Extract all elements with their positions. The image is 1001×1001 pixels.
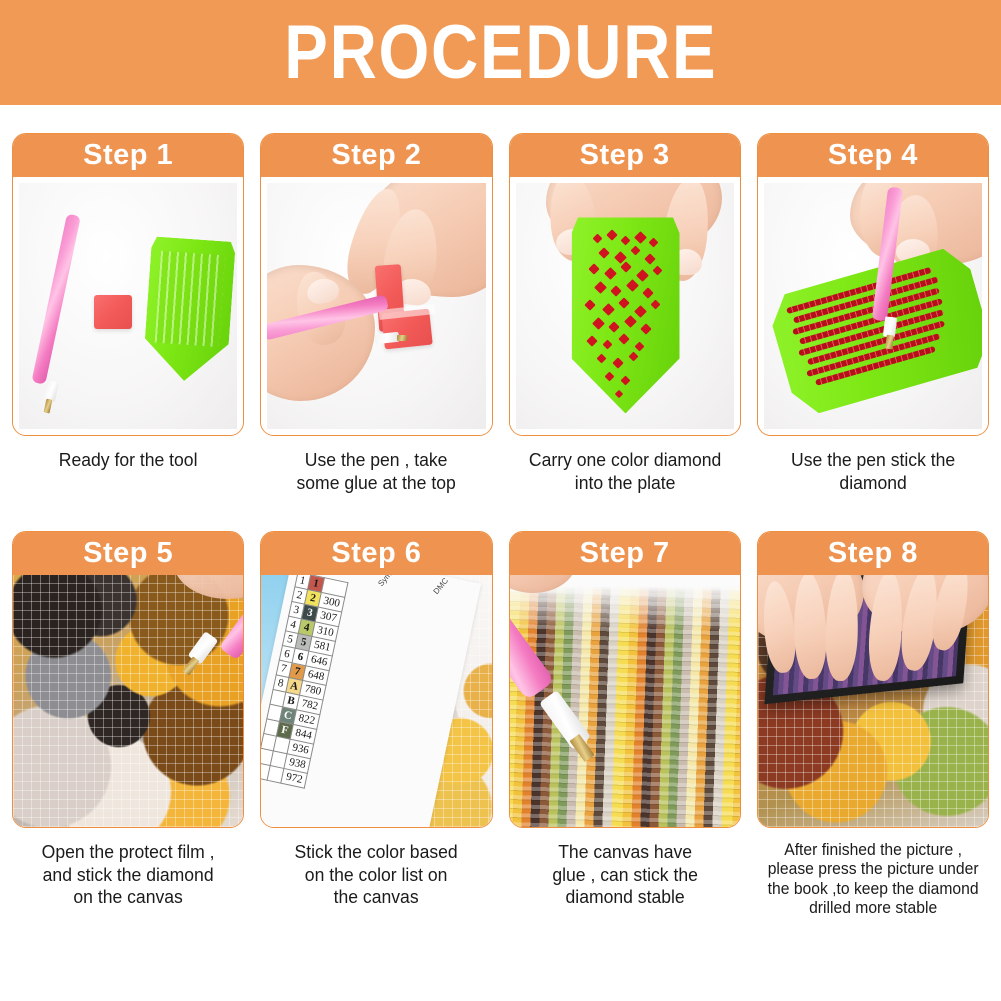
steps-grid: Step 1 Ready for the tool	[0, 105, 1001, 919]
step-card-5[interactable]: Step 5	[12, 531, 244, 828]
step-caption-4: Use the pen stick the diamond	[763, 449, 984, 494]
step-cell-4: Step 4	[757, 133, 989, 495]
step-image-4	[758, 177, 988, 435]
step-image-7	[510, 575, 740, 827]
step-card-2[interactable]: Step 2	[260, 133, 492, 436]
step-label-2: Step 2	[261, 134, 491, 177]
step-label-3: Step 3	[510, 134, 740, 177]
step-image-5	[13, 575, 243, 827]
step-image-3	[510, 177, 740, 435]
step-card-4[interactable]: Step 4	[757, 133, 989, 436]
step-caption-1: Ready for the tool	[18, 449, 239, 472]
step-label-7: Step 7	[510, 532, 740, 575]
step-cell-2: Step 2	[260, 133, 492, 495]
step-card-3[interactable]: Step 3	[509, 133, 741, 436]
step-image-1	[13, 177, 243, 435]
page-header: PROCEDURE	[0, 0, 1001, 105]
glue-square-icon	[94, 295, 132, 329]
step-label-1: Step 1	[13, 134, 243, 177]
step-cell-7: Step 7 The canvas have glue , can stick …	[509, 531, 741, 919]
step-image-8	[758, 575, 988, 827]
step-caption-3: Carry one color diamond into the plate	[514, 449, 735, 494]
pen-needle-icon	[885, 335, 894, 350]
step-card-8[interactable]: Step 8	[757, 531, 989, 828]
step-cell-3: Step 3	[509, 133, 741, 495]
step-image-6: Serial Symbol DMC 1122300333074431055581…	[261, 575, 491, 827]
step-cell-1: Step 1 Ready for the tool	[12, 133, 244, 495]
page-title: PROCEDURE	[284, 15, 717, 91]
step-cell-5: Step 5 Open the protect film , and stick…	[12, 531, 244, 919]
step-caption-7: The canvas have glue , can stick the dia…	[514, 841, 735, 909]
step-cell-8: Step 8	[757, 531, 989, 919]
step-cell-6: Step 6 Serial Symbol DMC 112230033307443…	[260, 531, 492, 919]
step-caption-5: Open the protect film , and stick the di…	[18, 841, 239, 909]
step-label-5: Step 5	[13, 532, 243, 575]
step-card-1[interactable]: Step 1	[12, 133, 244, 436]
pen-needle-icon	[397, 335, 407, 341]
step-label-6: Step 6	[261, 532, 491, 575]
step-caption-8: After finished the picture , please pres…	[763, 841, 984, 919]
step-label-4: Step 4	[758, 134, 988, 177]
step-card-6[interactable]: Step 6 Serial Symbol DMC 112230033307443…	[260, 531, 492, 828]
step-caption-2: Use the pen , take some glue at the top	[266, 449, 487, 494]
step-image-2	[261, 177, 491, 435]
step-card-7[interactable]: Step 7	[509, 531, 741, 828]
step-label-8: Step 8	[758, 532, 988, 575]
step-caption-6: Stick the color based on the color list …	[266, 841, 487, 909]
